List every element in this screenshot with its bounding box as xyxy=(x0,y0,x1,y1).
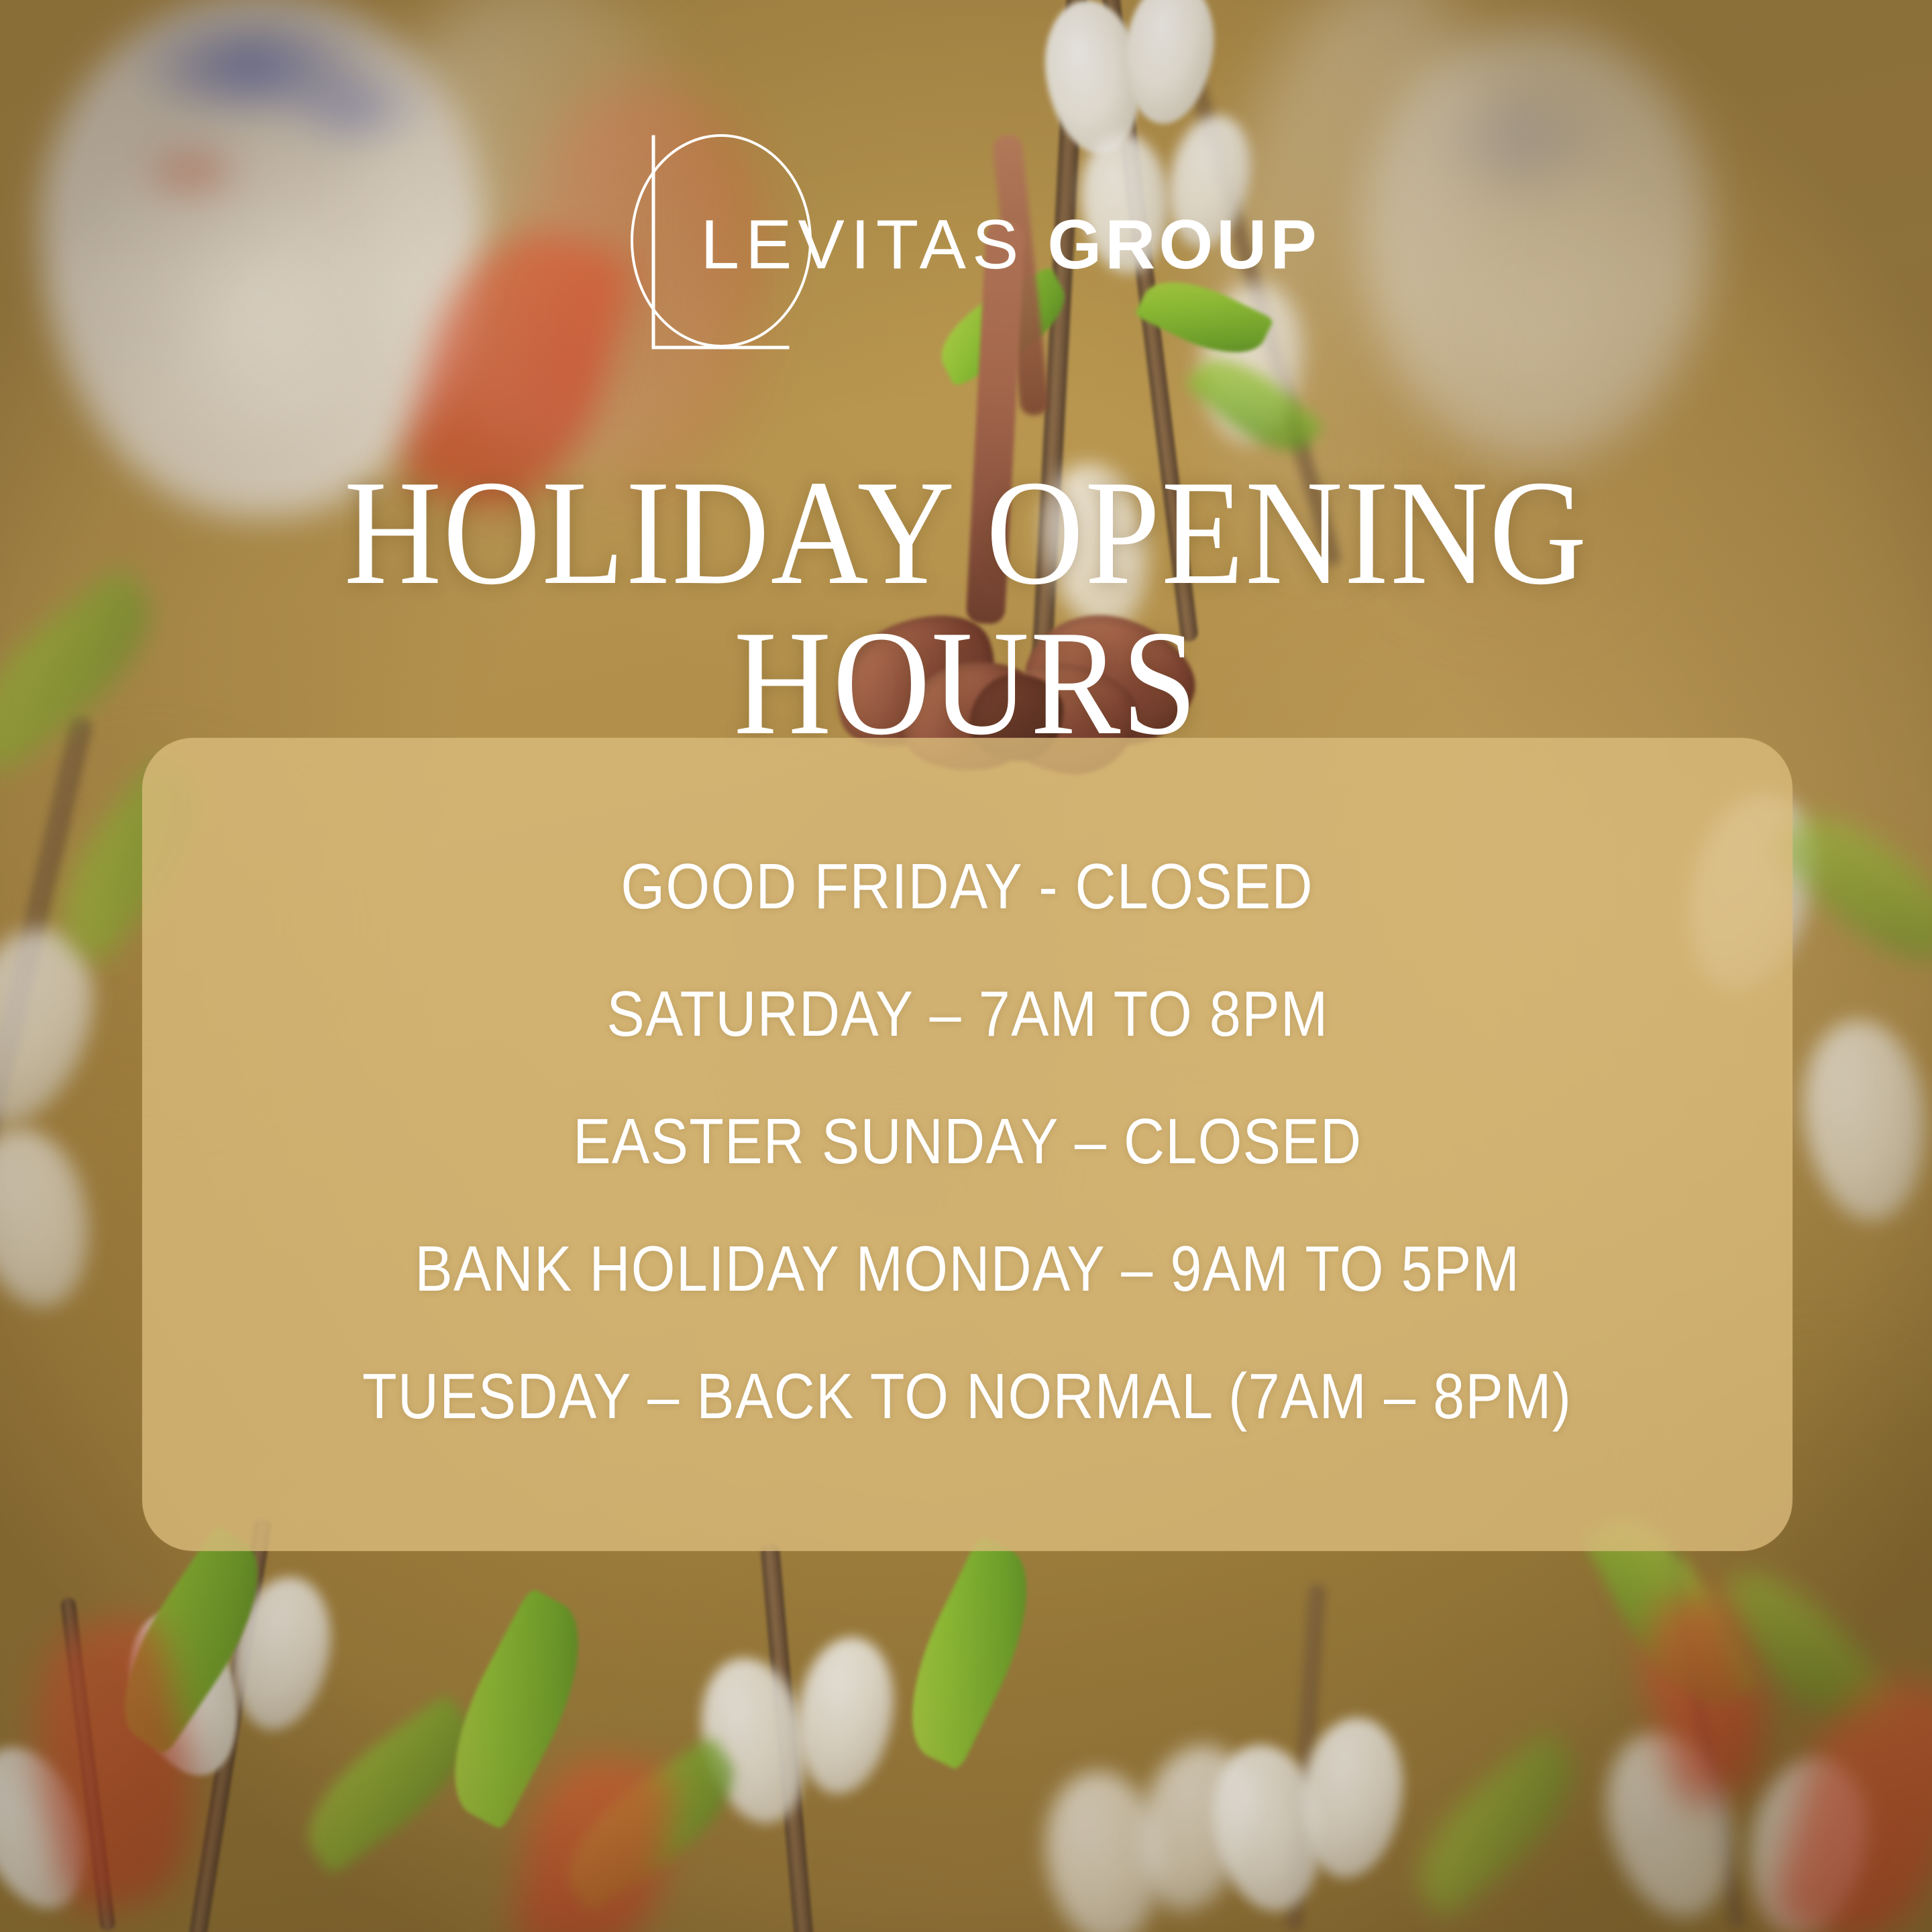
opening-hours-line: EASTER SUNDAY – CLOSED xyxy=(573,1110,1362,1174)
page-title: HOLIDAY OPENING HOURS xyxy=(97,458,1835,758)
brand-name-group: GROUP xyxy=(1047,210,1320,280)
opening-hours-line: SATURDAY – 7AM TO 8PM xyxy=(606,982,1328,1046)
opening-hours-panel: GOOD FRIDAY - CLOSED SATURDAY – 7AM TO 8… xyxy=(142,738,1792,1551)
opening-hours-line: GOOD FRIDAY - CLOSED xyxy=(621,855,1313,919)
brand-logo: LEVITAS GROUP xyxy=(0,131,1932,353)
holiday-hours-poster: LEVITAS GROUP HOLIDAY OPENING HOURS GOOD… xyxy=(0,0,1932,1932)
opening-hours-list: GOOD FRIDAY - CLOSED SATURDAY – 7AM TO 8… xyxy=(142,738,1792,1551)
poster-content: LEVITAS GROUP HOLIDAY OPENING HOURS GOOD… xyxy=(0,0,1932,1932)
opening-hours-line: BANK HOLIDAY MONDAY – 9AM TO 5PM xyxy=(415,1237,1520,1301)
levitas-l-monogram-icon xyxy=(612,131,813,353)
opening-hours-line: TUESDAY – BACK TO NORMAL (7AM – 8PM) xyxy=(362,1364,1572,1429)
